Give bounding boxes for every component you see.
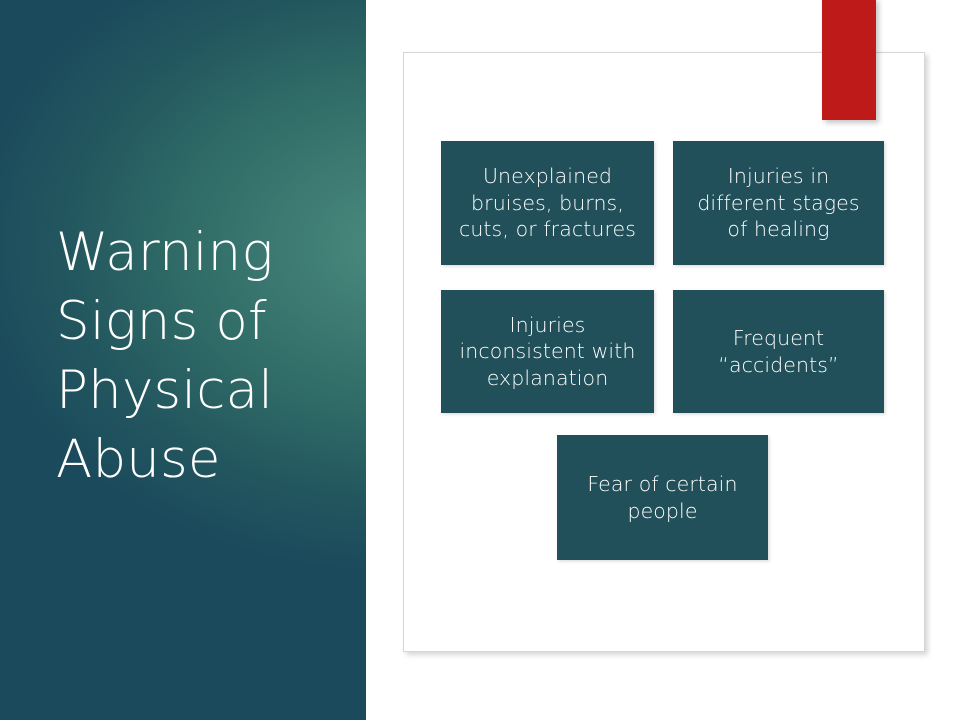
warning-sign-label: Injuries inconsistent with explanation [441,312,654,392]
page-title: Warning Signs of Physical Abuse [56,218,346,494]
warning-sign-box: Fear of certain people [557,435,768,560]
warning-sign-label: Frequent “accidents” [673,325,884,378]
warning-sign-box: Frequent “accidents” [673,290,884,413]
slide-canvas: Warning Signs of Physical Abuse Unexplai… [0,0,960,720]
title-panel: Warning Signs of Physical Abuse [0,0,366,720]
warning-sign-box: Injuries in different stages of healing [673,141,884,265]
warning-sign-box: Unexplained bruises, burns, cuts, or fra… [441,141,654,265]
red-accent-bar [822,0,876,120]
warning-sign-label: Fear of certain people [557,471,768,524]
warning-sign-label: Unexplained bruises, burns, cuts, or fra… [441,163,654,243]
warning-sign-label: Injuries in different stages of healing [673,163,884,243]
warning-sign-box: Injuries inconsistent with explanation [441,290,654,413]
